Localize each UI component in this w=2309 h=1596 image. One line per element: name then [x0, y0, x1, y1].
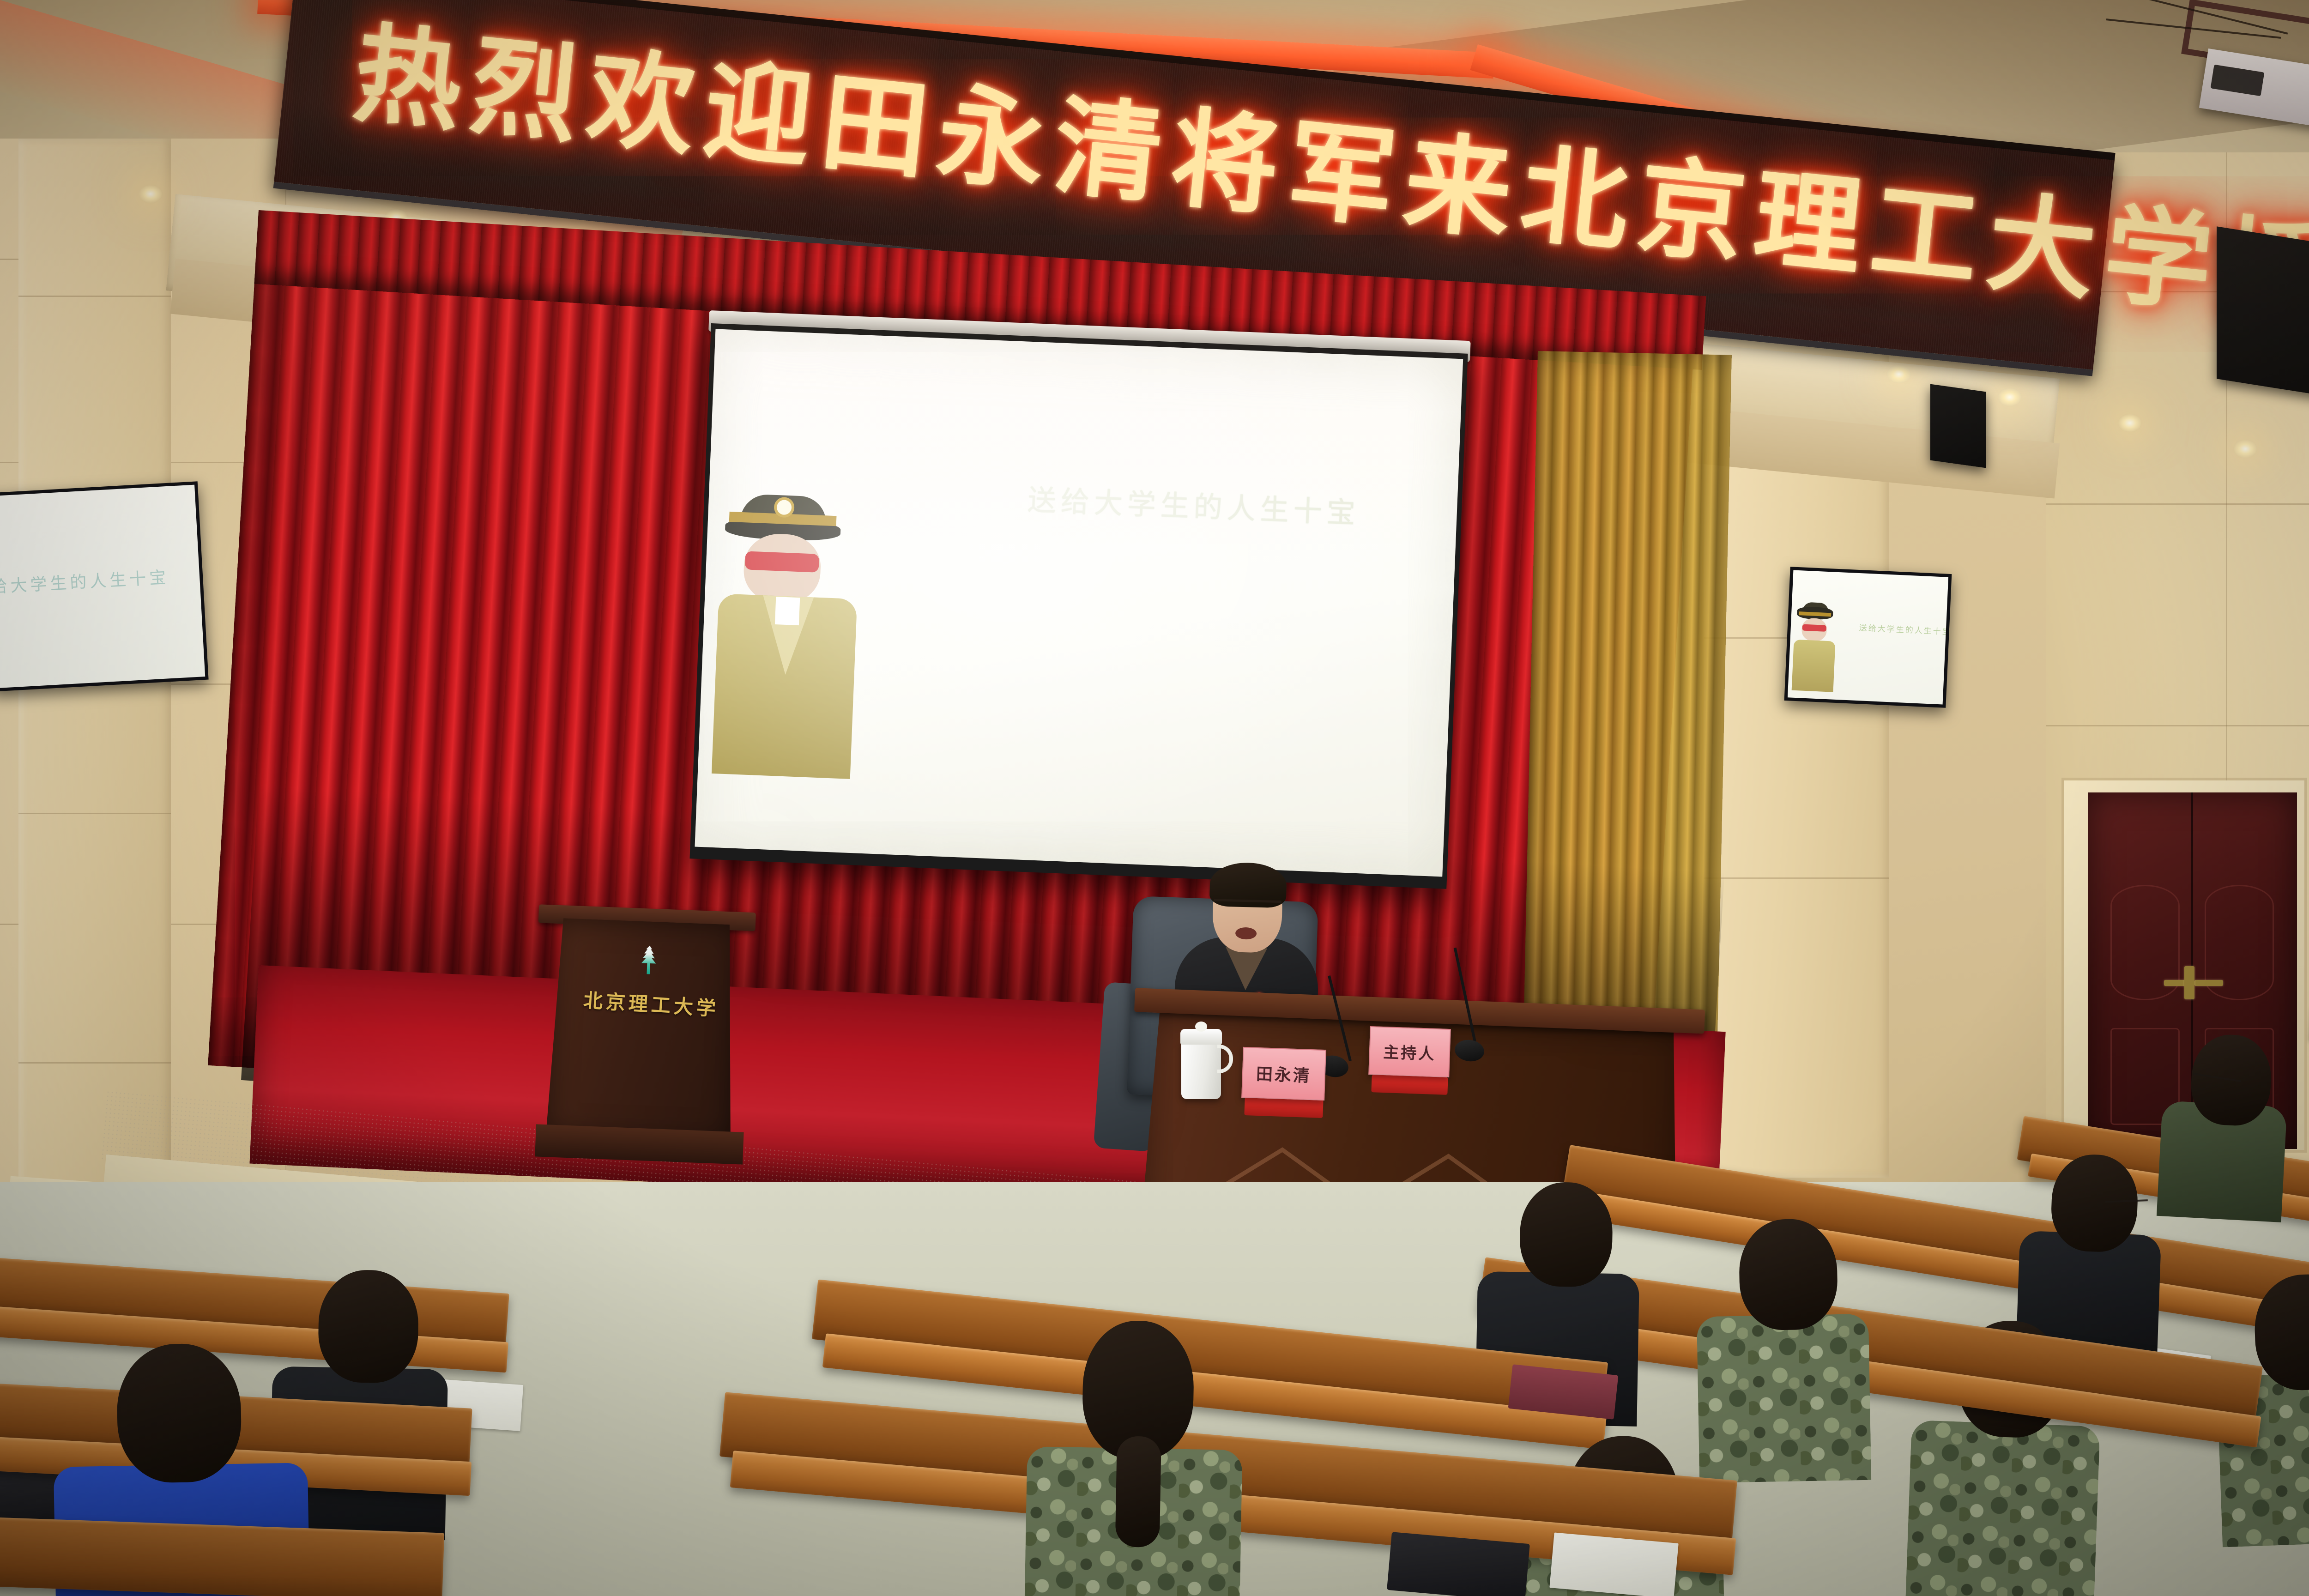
- eyeglasses-icon: [1214, 899, 1281, 913]
- audience-member: [1716, 1218, 1853, 1415]
- tea-mug: [1181, 1040, 1221, 1099]
- ceiling-spotlight: [2118, 414, 2142, 432]
- speaker-nameplate: 田永清: [1241, 1047, 1326, 1100]
- ponytail: [1115, 1436, 1161, 1548]
- projection-screen-surface: 送给大学生的人生十宝: [695, 329, 1463, 877]
- wall-speaker-center-right: [1930, 384, 1986, 468]
- left-wall-monitor: 送给大学生的人生十宝: [0, 481, 209, 692]
- pine-tree-emblem-icon: [638, 945, 660, 979]
- audience-member: [2029, 1153, 2150, 1323]
- door-handle-right[interactable]: [2194, 980, 2223, 986]
- audience-member: [1495, 1181, 1627, 1368]
- paper-sheet: [1549, 1532, 1678, 1596]
- ceiling-spotlight: [1887, 365, 1911, 383]
- host-nameplate-stand: [1371, 1075, 1448, 1095]
- left-monitor-text: 送给大学生的人生十宝: [0, 564, 169, 599]
- lecture-hall-scene: 热烈欢迎田永清将军来北京理工大学授课 送给大学生的人生十宝: [0, 0, 2309, 1596]
- audience-member: [2167, 1032, 2281, 1190]
- wall-speaker-right: [2217, 226, 2309, 397]
- slide-portrait-photo: [712, 477, 926, 780]
- ceiling-spotlight: [139, 185, 163, 203]
- ceiling-spotlight: [1998, 388, 2022, 406]
- slide-title-text: 送给大学生的人生十宝: [1027, 477, 1361, 532]
- right-monitor-text: 送给大学生的人生十宝: [1859, 621, 1948, 637]
- ceiling-spotlight: [2233, 440, 2257, 458]
- sunglasses-icon: [745, 551, 819, 572]
- tea-mug-knob: [1195, 1022, 1207, 1032]
- right-wall-monitor: 送给大学生的人生十宝: [1784, 567, 1952, 708]
- projection-screen: 送给大学生的人生十宝: [689, 323, 1468, 889]
- door-lock-plate: [2184, 966, 2194, 999]
- host-nameplate: 主持人: [1368, 1026, 1451, 1077]
- monitor-portrait-photo: [1791, 606, 1838, 691]
- audience-member: [1055, 1319, 1212, 1596]
- lectern-podium: 北京理工大学: [536, 907, 745, 1210]
